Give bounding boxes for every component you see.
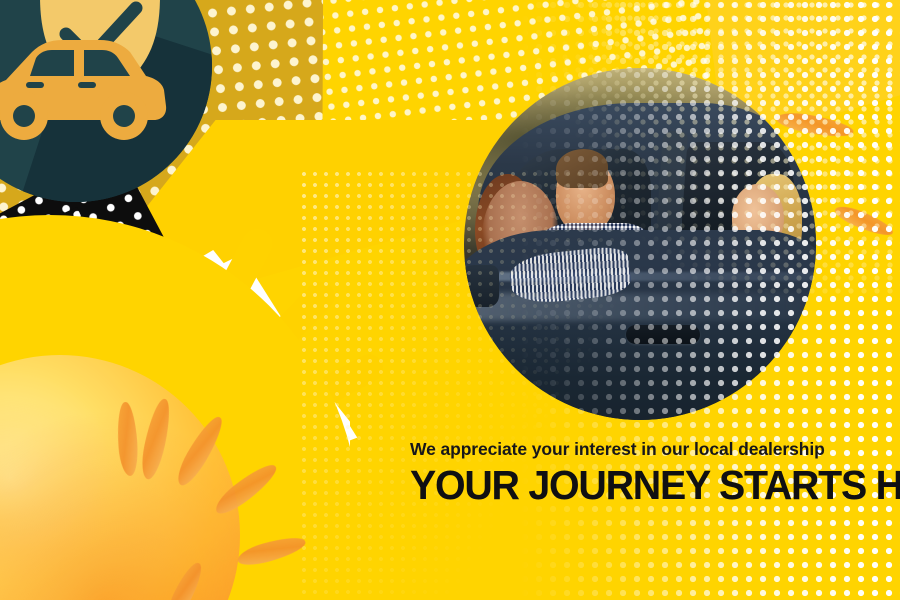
- headline-block: We appreciate your interest in our local…: [410, 440, 880, 507]
- photo-door-handle: [626, 325, 700, 344]
- promo-banner: We appreciate your interest in our local…: [0, 0, 900, 600]
- car-shield-logo: [0, 0, 212, 202]
- photo-car-shine: [464, 293, 816, 321]
- kicker-text: We appreciate your interest in our local…: [410, 440, 880, 459]
- photo-side-mirror: [464, 265, 499, 307]
- photo-man-hair: [556, 149, 609, 188]
- logo-artwork: [0, 0, 212, 202]
- page-title: YOUR JOURNEY STARTS HERE: [410, 465, 861, 507]
- family-in-car-photo: [464, 68, 816, 420]
